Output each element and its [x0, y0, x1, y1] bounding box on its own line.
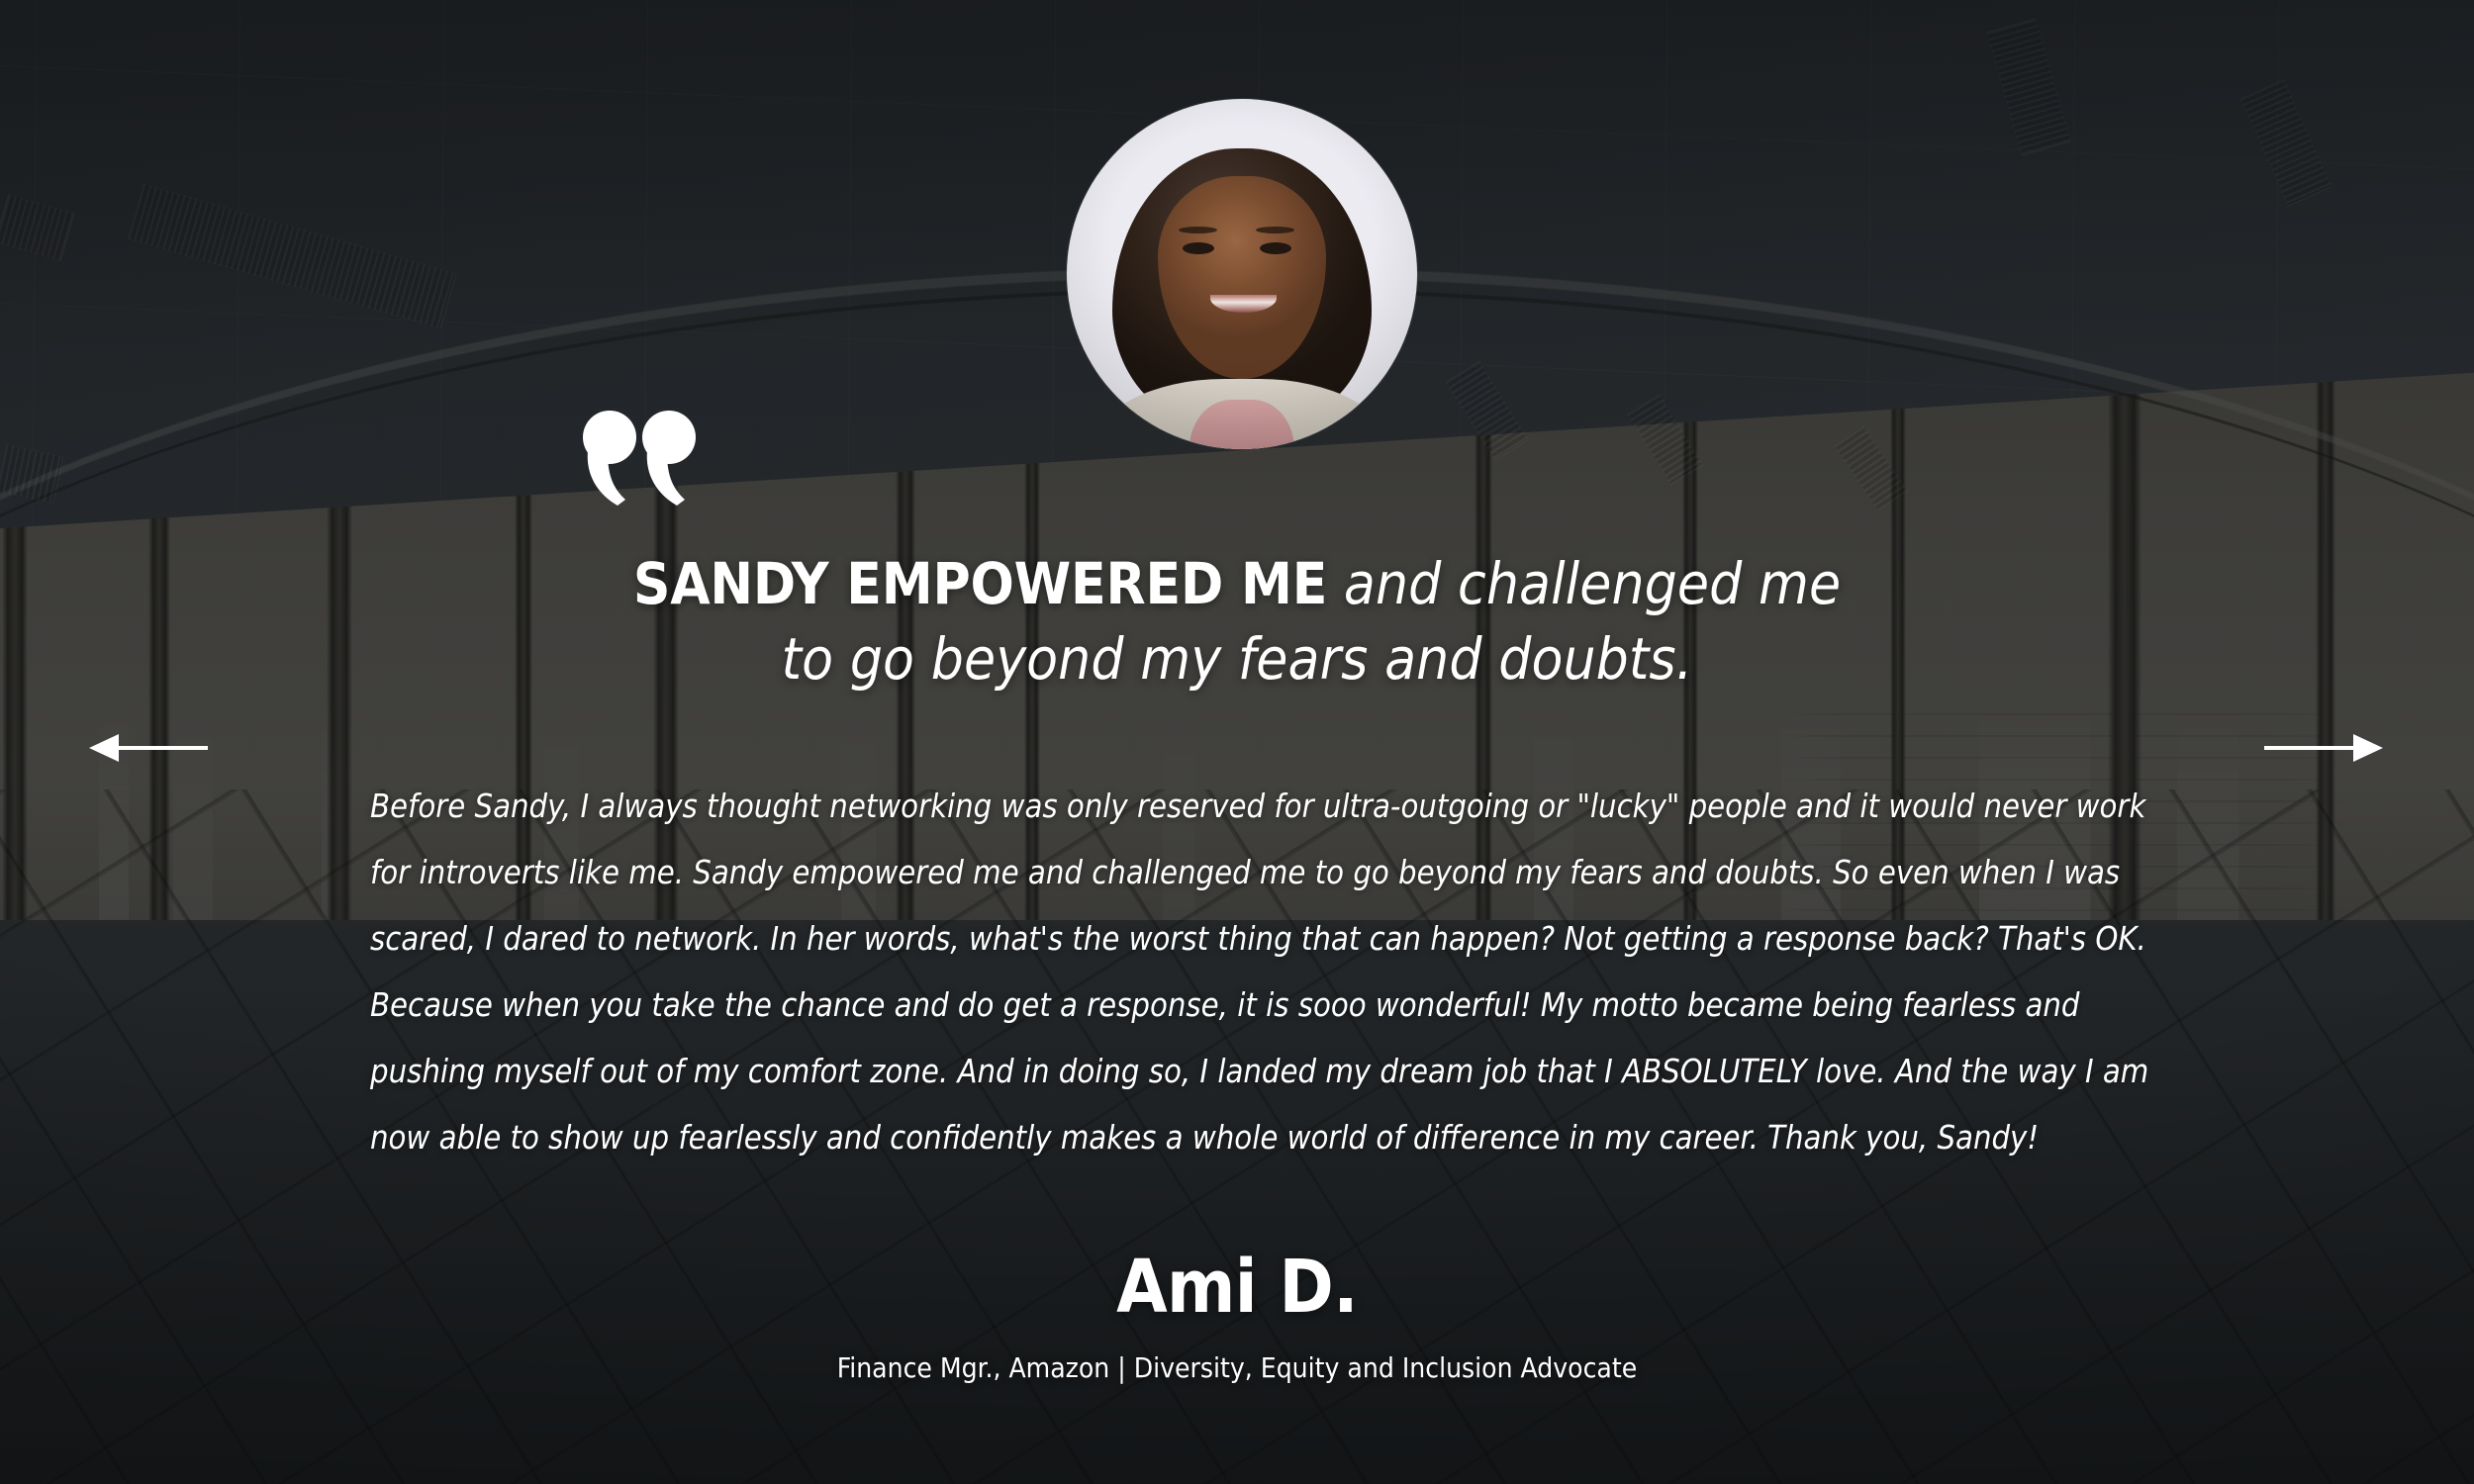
arrow-left-icon[interactable]	[89, 727, 208, 769]
double-quote-icon	[582, 408, 697, 507]
headline: SANDY EMPOWERED ME and challenged me to …	[0, 546, 2474, 696]
testimonial-slide: SANDY EMPOWERED ME and challenged me to …	[0, 0, 2474, 1484]
carousel-prev-button[interactable]	[89, 727, 208, 769]
testimonial-body: Before Sandy, I always thought networkin…	[370, 774, 2185, 1171]
headline-line-2: to go beyond my fears and doubts.	[0, 621, 2474, 696]
arrow-right-icon[interactable]	[2264, 727, 2383, 769]
author-name: Ami D.	[0, 1245, 2474, 1330]
headline-rest: and challenged me	[1327, 550, 1841, 617]
author-role: Finance Mgr., Amazon | Diversity, Equity…	[0, 1350, 2474, 1386]
carousel-next-button[interactable]	[2264, 727, 2383, 769]
headline-emphasis: SANDY EMPOWERED ME	[633, 550, 1327, 617]
slide-content: SANDY EMPOWERED ME and challenged me to …	[0, 0, 2474, 1484]
headline-line-1: SANDY EMPOWERED ME and challenged me	[0, 546, 2474, 621]
avatar	[1067, 99, 1417, 449]
avatar-vignette	[1067, 99, 1417, 449]
